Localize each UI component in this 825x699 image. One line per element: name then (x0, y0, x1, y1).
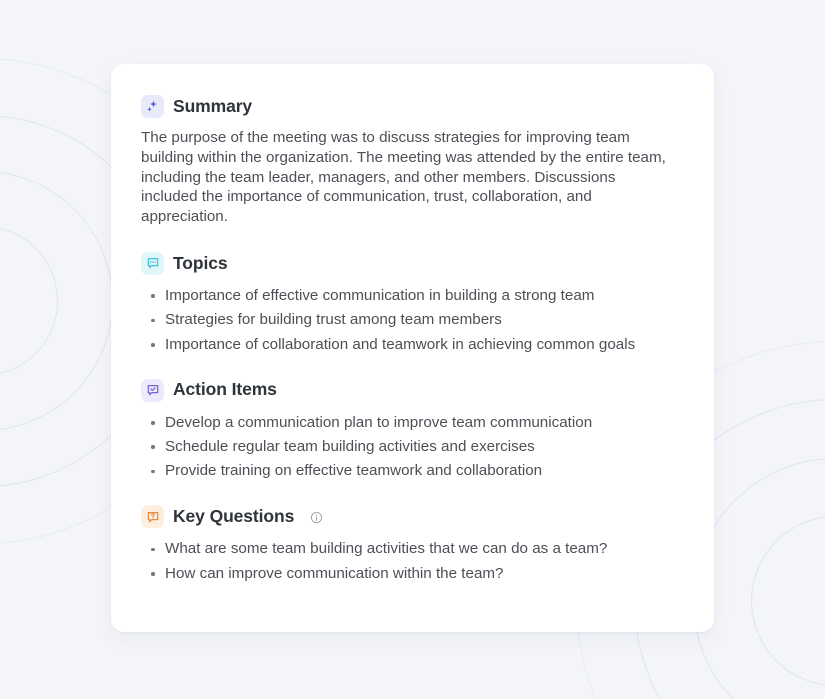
chat-bubble-check-icon (141, 379, 164, 402)
section-key-questions: Key Questions What are some team buildin… (141, 505, 684, 583)
key-questions-heading: Key Questions (141, 505, 684, 528)
action-items-list: Develop a communication plan to improve … (141, 413, 684, 482)
list-item: Importance of effective communication in… (141, 286, 683, 306)
chat-bubble-dots-icon (141, 252, 164, 275)
background-ring-right-1 (751, 516, 825, 686)
topics-title: Topics (173, 254, 228, 273)
sparkle-icon (141, 95, 164, 118)
background-ring-left-2 (0, 171, 113, 431)
list-item: Provide training on effective teamwork a… (141, 461, 683, 481)
summary-heading: Summary (141, 95, 684, 118)
list-item: Develop a communication plan to improve … (141, 413, 683, 433)
list-item: Schedule regular team building activitie… (141, 437, 683, 457)
list-item: What are some team building activities t… (141, 539, 683, 559)
summary-paragraph: The purpose of the meeting was to discus… (141, 128, 669, 227)
section-summary: Summary The purpose of the meeting was t… (141, 95, 684, 227)
background-ring-left-1 (0, 226, 58, 376)
info-circle-icon[interactable] (310, 511, 323, 524)
action-items-title: Action Items (173, 380, 277, 399)
key-questions-list: What are some team building activities t… (141, 539, 684, 583)
key-questions-title: Key Questions (173, 507, 294, 526)
summary-title: Summary (173, 97, 252, 116)
topics-list: Importance of effective communication in… (141, 286, 684, 355)
section-action-items: Action Items Develop a communication pla… (141, 379, 684, 482)
list-item: How can improve communication within the… (141, 564, 683, 584)
list-item: Importance of collaboration and teamwork… (141, 335, 683, 355)
list-item: Strategies for building trust among team… (141, 310, 683, 330)
meeting-notes-card: Summary The purpose of the meeting was t… (111, 64, 714, 632)
topics-heading: Topics (141, 252, 684, 275)
action-items-heading: Action Items (141, 379, 684, 402)
section-topics: Topics Importance of effective communica… (141, 252, 684, 355)
chat-bubble-question-icon (141, 505, 164, 528)
